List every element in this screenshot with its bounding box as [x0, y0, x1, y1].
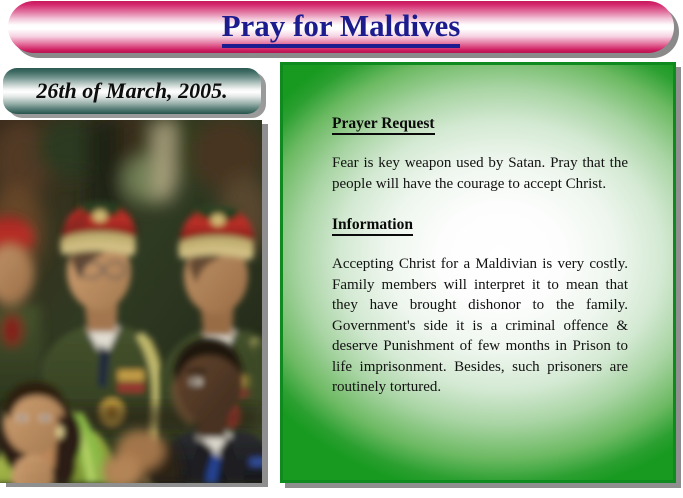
section-information: Information Accepting Christ for a Maldi…: [332, 216, 628, 398]
section-prayer-request: Prayer Request Fear is key weapon used b…: [332, 115, 628, 194]
section-gap: [332, 194, 628, 216]
section-body-prayer-request: Fear is key weapon used by Satan. Pray t…: [332, 153, 628, 194]
section-heading-information: Information: [332, 216, 413, 236]
section-body-information: Accepting Christ for a Maldivian is very…: [332, 254, 628, 398]
date-badge-label: 26th of March, 2005.: [3, 68, 261, 114]
title-banner: Pray for Maldives: [8, 1, 674, 53]
section-heading-prayer-request: Prayer Request: [332, 115, 435, 135]
page-title: Pray for Maldives: [8, 1, 674, 53]
photo-illustration: [0, 120, 262, 483]
page-title-text: Pray for Maldives: [222, 8, 461, 48]
content-panel: Prayer Request Fear is key weapon used b…: [280, 62, 676, 483]
content-body: Prayer Request Fear is key weapon used b…: [332, 115, 628, 398]
date-badge: 26th of March, 2005.: [3, 68, 261, 114]
photo-military-officers: [0, 120, 262, 483]
